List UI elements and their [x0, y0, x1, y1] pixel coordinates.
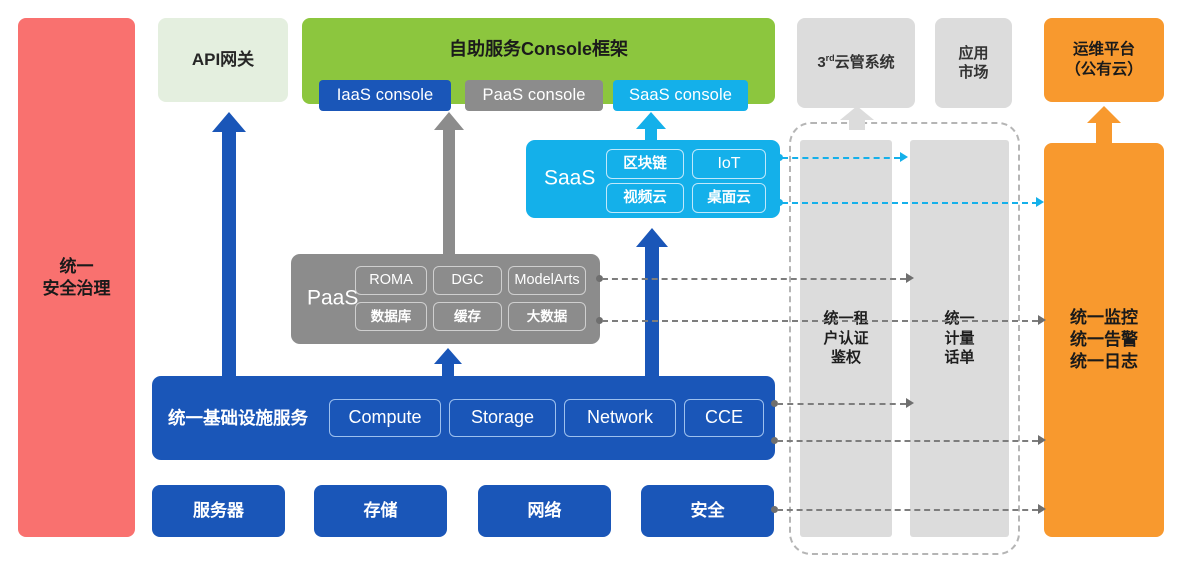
saas-chip-iot[interactable]: IoT — [692, 149, 766, 179]
ops-monitoring-label: 统一监控 统一告警 统一日志 — [1070, 307, 1138, 372]
hardware-box-network-label: 网络 — [528, 500, 562, 522]
app-market-box: 应用 市场 — [935, 18, 1012, 108]
arrow-shared-to-third-party — [840, 106, 874, 130]
shared-service-auth-column: 统一租 户认证 鉴权 — [800, 140, 892, 537]
arrow-ops-column-to-platform — [1087, 106, 1121, 144]
infra-chip-storage[interactable]: Storage — [449, 399, 556, 437]
arrowhead-saas-to-ops — [1036, 197, 1044, 207]
paas-chip-bigdata[interactable]: 大数据 — [508, 302, 586, 331]
paas-layer-label: PaaS — [307, 286, 358, 313]
arrowhead-saas-to-metering — [900, 152, 908, 162]
dashed-line-hardware-to-ops — [777, 509, 1038, 511]
saas-chip-iot-label: IoT — [717, 154, 740, 174]
arrowhead-infra-to-ops — [1038, 435, 1046, 445]
security-governance-label: 统一 安全治理 — [43, 256, 111, 300]
infra-chip-network[interactable]: Network — [564, 399, 676, 437]
ops-platform-box: 运维平台 （公有云） — [1044, 18, 1164, 102]
arrowhead-paas-to-ops — [1038, 315, 1046, 325]
paas-chip-cache[interactable]: 缓存 — [433, 302, 502, 331]
third-party-cloud-mgmt-box: 3rd云管系统 — [797, 18, 915, 108]
unified-infrastructure-label: 统一基础设施服务 — [168, 407, 308, 429]
paas-chip-bigdata-label: 大数据 — [527, 308, 568, 325]
arrow-saas-to-console — [636, 112, 666, 144]
arrowhead-paas-to-auth — [906, 273, 914, 283]
paas-chip-database-label: 数据库 — [371, 308, 412, 325]
app-market-label: 应用 市场 — [958, 44, 988, 82]
dashed-line-paas-to-ops — [602, 320, 1038, 322]
infra-chip-compute[interactable]: Compute — [329, 399, 441, 437]
hardware-box-security: 安全 — [641, 485, 774, 537]
infra-chip-cce[interactable]: CCE — [684, 399, 764, 437]
arrow-infra-to-api-gateway — [212, 112, 246, 380]
hardware-box-security-label: 安全 — [691, 500, 725, 522]
third-party-cloud-mgmt-label: 3rd云管系统 — [817, 53, 894, 72]
dashed-line-infra-to-auth — [777, 403, 906, 405]
hardware-box-server-label: 服务器 — [193, 500, 244, 522]
dashed-line-infra-to-ops — [777, 440, 1038, 442]
hardware-box-server: 服务器 — [152, 485, 285, 537]
arrowhead-infra-to-auth — [906, 398, 914, 408]
hardware-box-storage: 存储 — [314, 485, 447, 537]
paas-chip-modelarts-label: ModelArts — [514, 271, 579, 290]
iaas-console-label: IaaS console — [337, 85, 434, 106]
hardware-box-network: 网络 — [478, 485, 611, 537]
shared-service-metering-column: 统一 计量 话单 — [910, 140, 1009, 537]
paas-chip-database[interactable]: 数据库 — [355, 302, 427, 331]
shared-service-metering-label: 统一 计量 话单 — [944, 309, 974, 368]
ops-platform-label: 运维平台 （公有云） — [1065, 40, 1143, 80]
iaas-console-chip[interactable]: IaaS console — [319, 80, 451, 111]
paas-chip-roma[interactable]: ROMA — [355, 266, 427, 295]
saas-chip-blockchain-label: 区块链 — [623, 155, 667, 174]
dashed-line-paas-to-auth — [602, 278, 906, 280]
unified-infrastructure-bar: 统一基础设施服务 Compute Storage Network CCE — [152, 376, 775, 460]
paas-chip-roma-label: ROMA — [369, 271, 413, 290]
infra-chip-compute-label: Compute — [348, 406, 421, 429]
dashed-line-saas-to-metering — [782, 157, 900, 159]
saas-layer-label: SaaS — [544, 166, 595, 193]
paas-console-label: PaaS console — [482, 85, 585, 106]
architecture-diagram: 统一 安全治理 API网关 自助服务Console框架 IaaS console… — [0, 0, 1200, 574]
saas-chip-desktop-cloud[interactable]: 桌面云 — [692, 183, 766, 213]
infra-chip-cce-label: CCE — [705, 406, 743, 429]
paas-chip-cache-label: 缓存 — [454, 308, 481, 325]
arrow-infra-to-saas — [636, 228, 668, 378]
paas-console-chip[interactable]: PaaS console — [465, 80, 603, 111]
ops-monitoring-column: 统一监控 统一告警 统一日志 — [1044, 143, 1164, 537]
shared-service-auth-label: 统一租 户认证 鉴权 — [823, 309, 868, 368]
api-gateway-label: API网关 — [192, 49, 254, 71]
arrow-paas-to-console — [434, 112, 464, 258]
saas-console-chip[interactable]: SaaS console — [613, 80, 748, 111]
dashed-line-saas-to-ops — [782, 202, 1038, 204]
arrowhead-hardware-to-ops — [1038, 504, 1046, 514]
paas-layer: PaaS ROMA DGC ModelArts 数据库 缓存 大数据 — [291, 254, 600, 344]
saas-console-label: SaaS console — [629, 85, 732, 106]
hardware-box-storage-label: 存储 — [364, 500, 398, 522]
saas-chip-blockchain[interactable]: 区块链 — [606, 149, 684, 179]
saas-chip-video-cloud-label: 视频云 — [623, 189, 667, 208]
saas-chip-video-cloud[interactable]: 视频云 — [606, 183, 684, 213]
security-governance-column: 统一 安全治理 — [18, 18, 135, 537]
paas-chip-modelarts[interactable]: ModelArts — [508, 266, 586, 295]
self-service-console-frame: 自助服务Console框架 IaaS console PaaS console … — [302, 18, 775, 104]
infra-chip-network-label: Network — [587, 406, 653, 429]
api-gateway-box: API网关 — [158, 18, 288, 102]
paas-chip-dgc-label: DGC — [451, 271, 483, 290]
infra-chip-storage-label: Storage — [471, 406, 534, 429]
console-frame-title: 自助服务Console框架 — [302, 38, 775, 61]
arrow-infra-to-paas — [434, 348, 462, 378]
saas-chip-desktop-cloud-label: 桌面云 — [707, 189, 751, 208]
saas-layer: SaaS 区块链 IoT 视频云 桌面云 — [526, 140, 780, 218]
paas-chip-dgc[interactable]: DGC — [433, 266, 502, 295]
